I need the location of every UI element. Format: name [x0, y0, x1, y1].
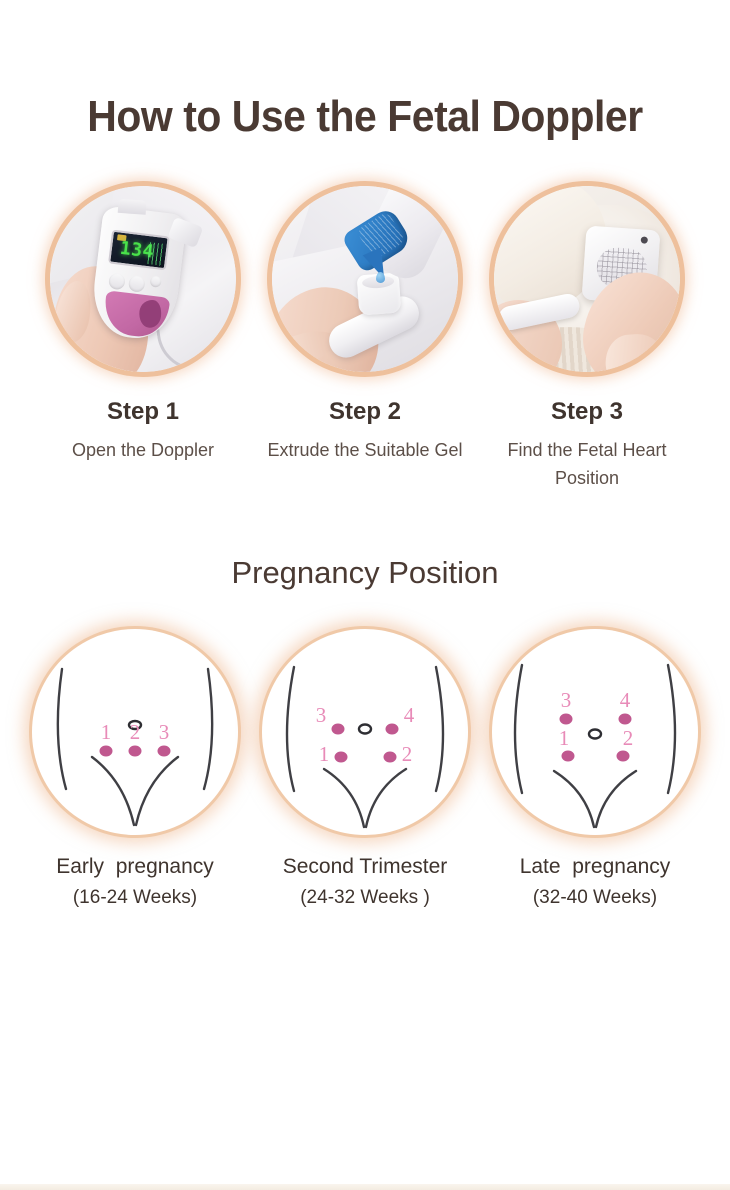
measurement-dot-label: 1	[559, 726, 570, 750]
measurement-dot	[384, 751, 397, 762]
measurement-dot	[386, 723, 399, 734]
measurement-dot	[619, 713, 632, 724]
device-lcd-screen: 134	[108, 230, 170, 271]
belly-outline-svg: 3412	[492, 629, 698, 835]
late-pregnancy-belly-diagram: 3412	[492, 629, 698, 835]
position-item-1: 123 Early pregnancy (16-24 Weeks)	[26, 629, 244, 909]
step-description: Extrude the Suitable Gel	[267, 437, 462, 465]
device-top-clip	[118, 199, 147, 215]
measurement-dot-label: 3	[561, 688, 572, 712]
gel-droplet	[376, 272, 385, 283]
belly-outline-svg: 123	[32, 629, 238, 835]
how-to-use-steps: 134 Step 1 Open the Doppler	[0, 186, 730, 493]
step-description: Find the Fetal Heart Position	[485, 437, 690, 493]
measurement-dot-label: 2	[623, 726, 634, 750]
measurement-dot	[129, 745, 142, 756]
device-button-left	[108, 273, 126, 291]
position-weeks: (24-32 Weeks )	[300, 887, 430, 909]
applying-gel-to-probe-photo	[272, 186, 458, 372]
device-button-right	[150, 276, 162, 288]
pregnancy-position-diagrams: 123 Early pregnancy (16-24 Weeks) 3412 S…	[0, 629, 730, 909]
doppler-device-in-hand-photo: 134	[50, 186, 236, 372]
position-item-3: 3412 Late pregnancy (32-40 Weeks)	[486, 629, 704, 909]
measurement-dot-label: 1	[101, 720, 112, 744]
position-name: Late pregnancy	[520, 855, 671, 879]
belly-outline-svg: 3412	[262, 629, 468, 835]
step-item-3: Step 3 Find the Fetal Heart Position	[481, 186, 693, 493]
measurement-dot	[158, 745, 171, 756]
second-trimester-belly-diagram: 3412	[262, 629, 468, 835]
step-item-2: Step 2 Extrude the Suitable Gel	[259, 186, 471, 465]
measurement-dot	[332, 723, 345, 734]
measurement-dot	[100, 745, 113, 756]
step-label: Step 2	[329, 398, 401, 426]
measurement-dot	[335, 751, 348, 762]
measurement-dot-label: 2	[402, 742, 413, 766]
measurement-dot-label: 4	[620, 688, 631, 712]
measurement-dot-label: 2	[130, 720, 141, 744]
bottom-divider	[0, 1184, 730, 1190]
measurement-dot	[562, 750, 575, 761]
position-name: Second Trimester	[283, 855, 448, 879]
early-pregnancy-belly-diagram: 123	[32, 629, 238, 835]
section-title: Pregnancy Position	[0, 555, 730, 591]
step-label: Step 3	[551, 398, 623, 426]
measurement-dot-label: 3	[159, 720, 170, 744]
device-button-middle	[128, 275, 146, 293]
step-label: Step 1	[107, 398, 179, 426]
infographic-page: How to Use the Fetal Doppler	[0, 92, 730, 1190]
position-name: Early pregnancy	[56, 855, 214, 879]
waveform-graphic	[147, 242, 164, 266]
position-weeks: (16-24 Weeks)	[73, 887, 197, 909]
measurement-dot-label: 3	[316, 703, 327, 727]
measurement-dot	[617, 750, 630, 761]
position-weeks: (32-40 Weeks)	[533, 887, 657, 909]
step-description: Open the Doppler	[72, 437, 214, 465]
page-title: How to Use the Fetal Doppler	[26, 92, 705, 142]
measurement-dot-label: 4	[404, 703, 415, 727]
step-item-1: 134 Step 1 Open the Doppler	[37, 186, 249, 465]
measurement-dot	[560, 713, 573, 724]
position-item-2: 3412 Second Trimester (24-32 Weeks )	[256, 629, 474, 909]
screw-hole	[641, 236, 648, 243]
fingers	[604, 332, 668, 372]
probe-on-pregnant-belly-photo	[494, 186, 680, 372]
measurement-dot-label: 1	[319, 742, 330, 766]
baby-silhouette-icon	[138, 299, 163, 329]
